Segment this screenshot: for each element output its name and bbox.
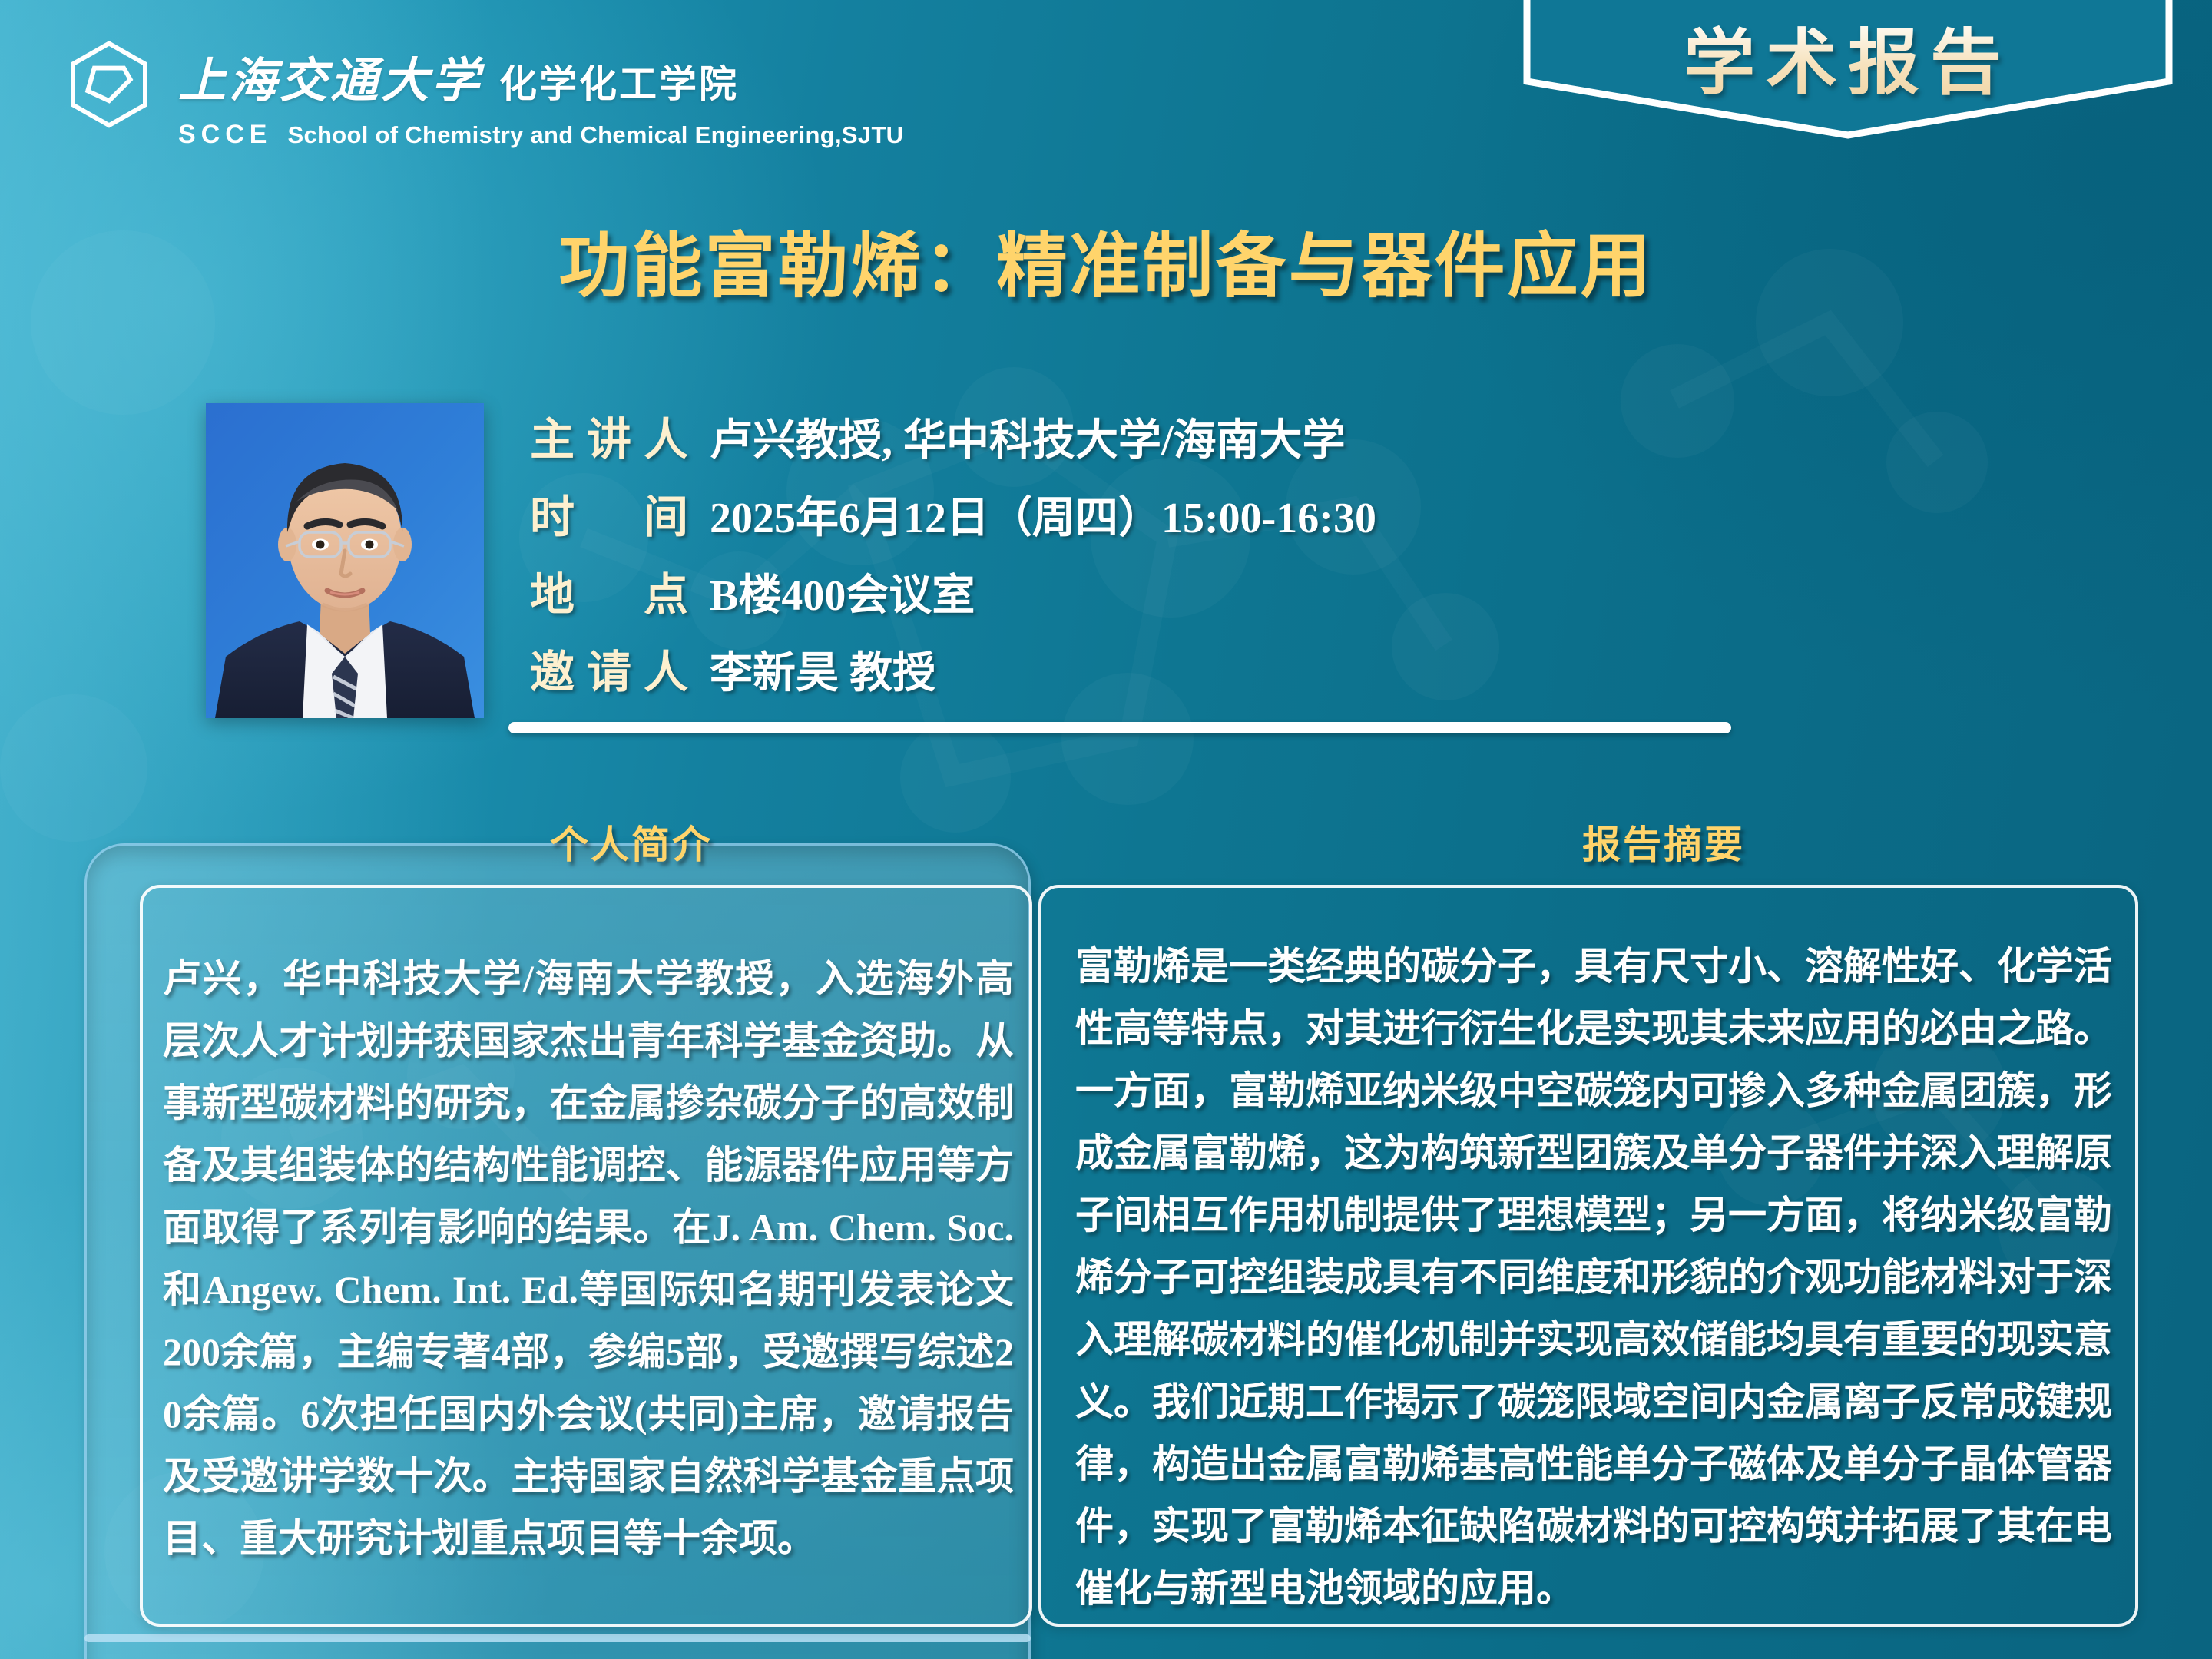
logo-school-name-en: School of Chemistry and Chemical Enginee… xyxy=(287,121,903,149)
info-row-host: 邀 请 人 李新昊 教授 xyxy=(530,636,1728,700)
info-label-host: 邀 请 人 xyxy=(530,636,690,700)
info-value-location: B楼400会议室 xyxy=(710,561,975,623)
speaker-portrait-photo xyxy=(206,403,484,718)
info-row-speaker: 主 讲 人 卢兴教授, 华中科技大学/海南大学 xyxy=(530,403,1728,468)
page-title: 功能富勒烯：精准制备与器件应用 xyxy=(0,209,2212,311)
bio-body-text: 卢兴，华中科技大学/海南大学教授，入选海外高层次人才计划并获国家杰出青年科学基金… xyxy=(163,948,1014,1570)
section-divider-rule xyxy=(508,722,1731,733)
ribbon-label: 学术报告 xyxy=(1521,5,2175,108)
logo-school-name-cn: 化学化工学院 xyxy=(499,54,739,108)
poster-canvas: 上海交通大学 化学化工学院 SCCE School of Chemistry a… xyxy=(0,0,2212,1659)
bio-panel-bottom-edge xyxy=(84,1634,1031,1642)
info-row-time: 时 间 2025年6月12日（周四）15:00-16:30 xyxy=(530,481,1728,545)
section-heading-abstract: 报告摘要 xyxy=(1582,814,1745,869)
info-label-time: 时 间 xyxy=(530,481,690,545)
info-value-host: 李新昊 教授 xyxy=(710,638,935,700)
info-value-speaker: 卢兴教授, 华中科技大学/海南大学 xyxy=(710,406,1346,468)
info-row-location: 地 点 B楼400会议室 xyxy=(530,558,1728,623)
event-info-list: 主 讲 人 卢兴教授, 华中科技大学/海南大学 时 间 2025年6月12日（周… xyxy=(530,403,1728,714)
section-heading-bio: 个人简介 xyxy=(550,814,713,869)
info-label-speaker: 主 讲 人 xyxy=(530,403,690,468)
info-value-time: 2025年6月12日（周四）15:00-16:30 xyxy=(710,483,1376,545)
academic-report-ribbon: 学术报告 xyxy=(1521,0,2175,141)
abstract-body-text: 富勒烯是一类经典的碳分子，具有尺寸小、溶解性好、化学活性高等特点，对其进行衍生化… xyxy=(1075,935,2112,1620)
logo-university-name-cn: 上海交通大学 xyxy=(178,41,482,111)
school-logo: 上海交通大学 化学化工学院 SCCE School of Chemistry a… xyxy=(60,37,903,150)
scce-hexagon-logo-icon xyxy=(60,37,158,135)
logo-abbreviation: SCCE xyxy=(178,120,272,150)
info-label-location: 地 点 xyxy=(530,558,690,623)
